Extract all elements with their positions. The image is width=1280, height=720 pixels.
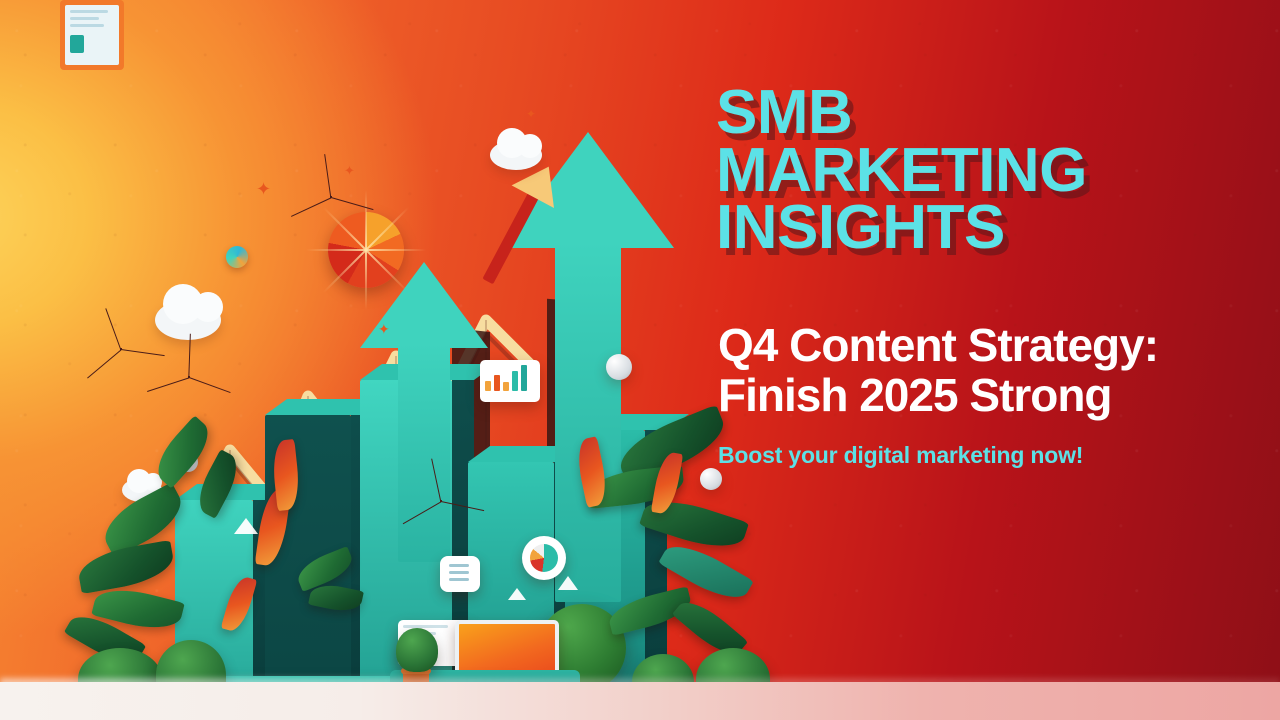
triangle-marker [508, 588, 526, 600]
triangle-marker [558, 576, 578, 590]
globe-sphere [226, 246, 248, 268]
marketing-banner: ✦ ✦ ✦ ✦ [0, 0, 1280, 720]
star-icon: ✦ [378, 322, 390, 336]
white-sphere [700, 468, 722, 490]
cloud-icon [155, 300, 221, 340]
headline: SMB MARKETING INSIGHTS [716, 84, 1218, 257]
white-sphere [606, 354, 632, 380]
star-icon: ✦ [256, 180, 271, 198]
floor-plane [0, 682, 1280, 720]
sparkle-mark [120, 348, 122, 350]
plant-leaf [75, 540, 176, 594]
plant-bush [396, 628, 438, 672]
sparkle-mark [188, 376, 190, 378]
stat-card-chart [480, 360, 540, 402]
document-card [60, 0, 124, 70]
sparkle-mark [330, 196, 332, 198]
banner-copy: SMB MARKETING INSIGHTS Q4 Content Strate… [718, 84, 1218, 469]
star-icon: ✦ [526, 108, 536, 120]
star-icon: ✦ [344, 164, 355, 177]
triangle-marker [234, 518, 258, 534]
subheadline: Q4 Content Strategy: Finish 2025 Strong [718, 321, 1218, 420]
sparkle-mark [440, 500, 442, 502]
cloud-icon [490, 140, 542, 170]
growth-arrow-small-icon [360, 262, 488, 562]
document-badge-icon [440, 556, 480, 592]
pie-chart-badge-icon [522, 536, 566, 580]
growth-illustration: ✦ ✦ ✦ ✦ [60, 0, 760, 720]
tagline: Boost your digital marketing now! [718, 442, 1218, 469]
